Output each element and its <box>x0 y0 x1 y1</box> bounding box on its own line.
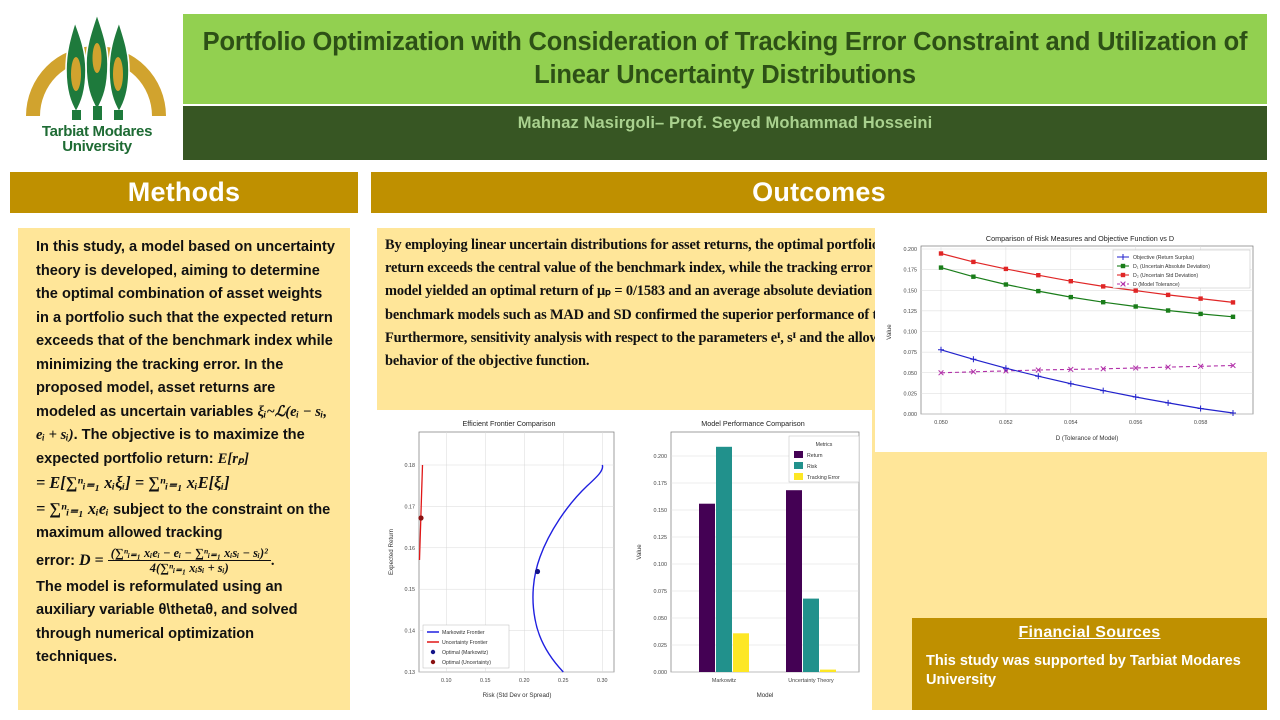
svg-text:0.15: 0.15 <box>405 587 416 593</box>
outcomes-header-label: Outcomes <box>752 177 886 208</box>
logo-text-line2: University <box>12 139 182 154</box>
methods-paragraph-1: In this study, a model based on uncertai… <box>36 239 335 420</box>
author-banner: Mahnaz Nasirgoli– Prof. Seyed Mohammad H… <box>183 106 1267 160</box>
svg-text:0.200: 0.200 <box>904 247 918 253</box>
frontier-legend-2: Optimal (Markowitz) <box>442 650 488 656</box>
risk-legend-1: D₁ (Uncertain Absolute Deviation) <box>1133 264 1210 270</box>
svg-text:0.17: 0.17 <box>405 504 416 510</box>
methods-paragraph-2: . The objective is to maximize the expec… <box>36 427 305 467</box>
bars-legend-title: Metrics <box>816 442 833 448</box>
methods-formula-expected-return: E[rₚ] <box>218 451 249 467</box>
logo-text-line1: Tarbiat Modares <box>12 124 182 139</box>
svg-text:0.075: 0.075 <box>904 350 918 356</box>
methods-error-numerator: (∑ⁿᵢ₌₁ xᵢeᵢ − eᵢ − ∑ⁿᵢ₌₁ xᵢsᵢ − sᵢ)² <box>108 546 271 562</box>
risk-legend-2: D₂ (Uncertain Std Deviation) <box>1133 273 1198 279</box>
svg-text:0.13: 0.13 <box>405 670 416 676</box>
svg-text:0.052: 0.052 <box>999 420 1013 426</box>
methods-error-lhs: D = <box>79 551 104 568</box>
methods-section-header: Methods <box>10 172 358 213</box>
chart-efficient-frontier: Efficient Frontier Comparison 0.13 0.14 … <box>377 410 627 710</box>
bars-ylabel: Value <box>636 544 643 560</box>
risk-chart-title: Comparison of Risk Measures and Objectiv… <box>986 234 1174 243</box>
svg-text:0.100: 0.100 <box>904 330 918 336</box>
svg-text:0.075: 0.075 <box>654 589 668 595</box>
methods-error-label: error: <box>36 552 75 568</box>
university-logo: Tarbiat Modares University <box>12 6 182 161</box>
methods-paragraph-4: The model is reformulated using an auxil… <box>36 579 298 666</box>
svg-text:0.175: 0.175 <box>654 481 668 487</box>
svg-text:0.125: 0.125 <box>654 535 668 541</box>
risk-measures-svg: Comparison of Risk Measures and Objectiv… <box>875 228 1267 452</box>
risk-ylabel: Value <box>886 324 893 340</box>
poster-header: Tarbiat Modares University Portfolio Opt… <box>0 0 1280 163</box>
outcomes-section-header: Outcomes <box>371 172 1267 213</box>
frontier-legend-0: Markowitz Frontier <box>442 630 485 636</box>
svg-text:0.150: 0.150 <box>904 288 918 294</box>
risk-legend-0: Objective (Return Surplus) <box>1133 255 1194 261</box>
methods-formula-expect-3: = ∑ⁿᵢ₌₁ xᵢeᵢ <box>36 499 109 518</box>
svg-text:0.025: 0.025 <box>904 391 918 397</box>
methods-error-period: . <box>271 552 275 568</box>
methods-body: In this study, a model based on uncertai… <box>18 228 350 710</box>
risk-legend-3: D (Model Tolerance) <box>1133 282 1180 288</box>
frontier-legend-3: Optimal (Uncertainty) <box>442 660 491 666</box>
tarbiat-modares-logo-icon <box>12 6 182 126</box>
svg-text:0.30: 0.30 <box>597 678 608 684</box>
frontier-chart-title: Efficient Frontier Comparison <box>463 419 556 428</box>
bars-xlabel: Model <box>757 692 774 699</box>
svg-text:0.10: 0.10 <box>441 678 452 684</box>
svg-text:0.20: 0.20 <box>519 678 530 684</box>
svg-text:0.16: 0.16 <box>405 546 416 552</box>
svg-text:0.18: 0.18 <box>405 463 416 469</box>
outcomes-body: By employing linear uncertain distributi… <box>377 228 1267 710</box>
svg-text:0.000: 0.000 <box>654 670 668 676</box>
poster-title: Portfolio Optimization with Consideratio… <box>183 26 1267 92</box>
methods-header-label: Methods <box>128 177 240 208</box>
poster-root: Tarbiat Modares University Portfolio Opt… <box>0 0 1280 720</box>
title-banner: Portfolio Optimization with Consideratio… <box>183 14 1267 104</box>
methods-formula-expect-2: = E[∑ⁿᵢ₌₁ xᵢξᵢ] = ∑ⁿᵢ₌₁ xᵢE[ξᵢ] <box>36 473 230 492</box>
financial-sources-box: Financial Sources This study was support… <box>912 618 1267 710</box>
frontier-legend: Markowitz Frontier Uncertainty Frontier … <box>423 625 509 668</box>
svg-text:0.050: 0.050 <box>904 371 918 377</box>
frontier-legend-1: Uncertainty Frontier <box>442 640 488 646</box>
chart-risk-measures-vs-d: Comparison of Risk Measures and Objectiv… <box>875 228 1267 452</box>
svg-text:0.000: 0.000 <box>904 412 918 418</box>
model-performance-svg: Model Performance Comparison 0.000 0.025… <box>627 410 872 710</box>
bars-xtick-1: Uncertainty Theory <box>788 678 834 684</box>
bars-legend: Metrics Return Risk Tracking Error <box>789 436 859 482</box>
svg-text:0.150: 0.150 <box>654 508 668 514</box>
bars-xtick-0: Markowitz <box>712 678 737 684</box>
chart-model-performance: Model Performance Comparison 0.000 0.025… <box>627 410 872 710</box>
svg-text:0.100: 0.100 <box>654 562 668 568</box>
financial-sources-title: Financial Sources <box>926 624 1253 642</box>
svg-text:0.058: 0.058 <box>1194 420 1208 426</box>
svg-text:0.054: 0.054 <box>1064 420 1078 426</box>
svg-text:0.056: 0.056 <box>1129 420 1143 426</box>
risk-legend: Objective (Return Surplus) D₁ (Uncertain… <box>1113 250 1250 288</box>
methods-error-denominator: 4(∑ⁿᵢ₌₁ xᵢsᵢ + sᵢ) <box>108 561 271 576</box>
bars-legend-0: Return <box>807 453 823 459</box>
bars-legend-2: Tracking Error <box>807 475 840 481</box>
svg-text:0.050: 0.050 <box>654 616 668 622</box>
bars-chart-title: Model Performance Comparison <box>701 419 804 428</box>
svg-text:0.050: 0.050 <box>934 420 948 426</box>
svg-text:0.125: 0.125 <box>904 309 918 315</box>
svg-text:0.14: 0.14 <box>405 629 416 635</box>
bars-legend-1: Risk <box>807 464 817 470</box>
svg-text:0.175: 0.175 <box>904 268 918 274</box>
frontier-xlabel: Risk (Std Dev or Spread) <box>483 692 552 699</box>
svg-text:0.25: 0.25 <box>558 678 569 684</box>
author-list: Mahnaz Nasirgoli– Prof. Seyed Mohammad H… <box>518 106 933 133</box>
svg-text:0.025: 0.025 <box>654 643 668 649</box>
svg-text:0.200: 0.200 <box>654 454 668 460</box>
methods-error-fraction: (∑ⁿᵢ₌₁ xᵢeᵢ − eᵢ − ∑ⁿᵢ₌₁ xᵢsᵢ − sᵢ)² 4(∑… <box>108 546 271 576</box>
financial-sources-body: This study was supported by Tarbiat Moda… <box>926 652 1253 690</box>
efficient-frontier-svg: Efficient Frontier Comparison 0.13 0.14 … <box>377 410 627 710</box>
optimal-markowitz-point <box>535 569 540 574</box>
svg-text:0.15: 0.15 <box>480 678 491 684</box>
risk-xlabel: D (Tolerance of Model) <box>1056 435 1119 442</box>
optimal-uncertainty-point <box>418 515 423 520</box>
frontier-ylabel: Expected Return <box>388 528 395 575</box>
